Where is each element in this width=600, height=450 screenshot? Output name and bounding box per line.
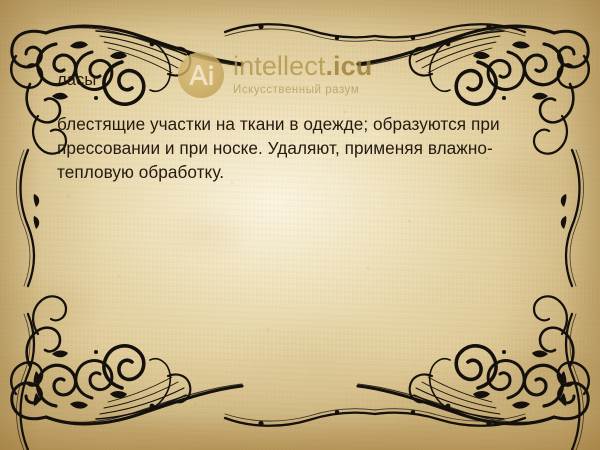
frame-edge-right bbox=[561, 150, 584, 450]
headword: ласы bbox=[57, 71, 96, 90]
dictionary-card: intellect.icu Искусственный разум ласы б… bbox=[0, 0, 600, 450]
definition: блестящие участки на ткани в одежде; обр… bbox=[57, 112, 543, 184]
ornamental-frame bbox=[0, 0, 600, 450]
frame-edge-left bbox=[17, 150, 40, 450]
frame-corner-bottom-right bbox=[358, 296, 589, 424]
frame-corner-bottom-left bbox=[11, 296, 242, 424]
